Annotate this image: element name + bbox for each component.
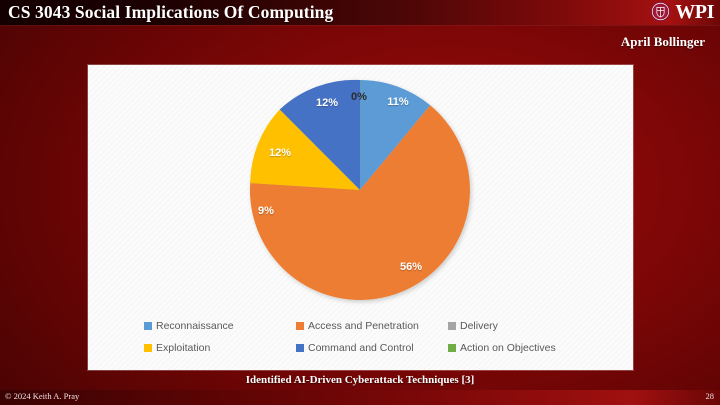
slide-title-bar: CS 3043 Social Implications Of Computing…: [0, 0, 720, 25]
legend-label: Delivery: [460, 320, 498, 332]
legend-swatch-icon: [296, 344, 304, 352]
slide: CS 3043 Social Implications Of Computing…: [0, 0, 720, 405]
legend-item-exploitation[interactable]: Exploitation: [144, 342, 296, 354]
legend-label: Access and Penetration: [308, 320, 419, 332]
legend-swatch-icon: [296, 322, 304, 330]
legend-swatch-icon: [448, 344, 456, 352]
pie-chart: 11% 56% 9% 12% 12% 0%: [88, 65, 633, 313]
page-number: 28: [706, 391, 715, 401]
legend-swatch-icon: [448, 322, 456, 330]
legend-label: Action on Objectives: [460, 342, 556, 354]
wpi-wordmark: WPI: [675, 2, 714, 22]
legend-label: Exploitation: [156, 342, 210, 354]
legend-item-reconnaissance[interactable]: Reconnaissance: [144, 320, 296, 332]
legend-label: Command and Control: [308, 342, 414, 354]
slide-footer: © 2024 Keith A. Pray 28: [0, 390, 720, 405]
legend-swatch-icon: [144, 322, 152, 330]
author-name: April Bollinger: [621, 34, 705, 50]
legend-item-access-and-penetration[interactable]: Access and Penetration: [296, 320, 448, 332]
chart-legend: Reconnaissance Access and Penetration De…: [144, 315, 594, 359]
pie-label-reconnaissance: 11%: [387, 96, 408, 108]
pie-slices: [250, 80, 470, 300]
pie-label-command-and-control: 12%: [316, 97, 338, 109]
legend-item-delivery[interactable]: Delivery: [448, 320, 498, 332]
pie-label-action-on-objectives: 0%: [351, 91, 367, 103]
legend-row: Exploitation Command and Control Action …: [144, 337, 594, 359]
chart-panel: 11% 56% 9% 12% 12% 0% Reconnaissance Acc…: [88, 65, 633, 370]
legend-row: Reconnaissance Access and Penetration De…: [144, 315, 594, 337]
wpi-logo: WPI: [650, 1, 714, 22]
pie-label-delivery: 9%: [258, 205, 274, 217]
legend-item-action-on-objectives[interactable]: Action on Objectives: [448, 342, 556, 354]
copyright-text: © 2024 Keith A. Pray: [5, 391, 79, 401]
page-title: CS 3043 Social Implications Of Computing: [8, 2, 333, 23]
legend-label: Reconnaissance: [156, 320, 234, 332]
pie-label-exploitation: 12%: [269, 147, 291, 159]
pie-label-access-and-penetration: 56%: [400, 261, 422, 273]
chart-caption: Identified AI-Driven Cyberattack Techniq…: [0, 374, 720, 386]
legend-swatch-icon: [144, 344, 152, 352]
legend-item-command-and-control[interactable]: Command and Control: [296, 342, 448, 354]
wpi-seal-icon: [650, 1, 671, 22]
